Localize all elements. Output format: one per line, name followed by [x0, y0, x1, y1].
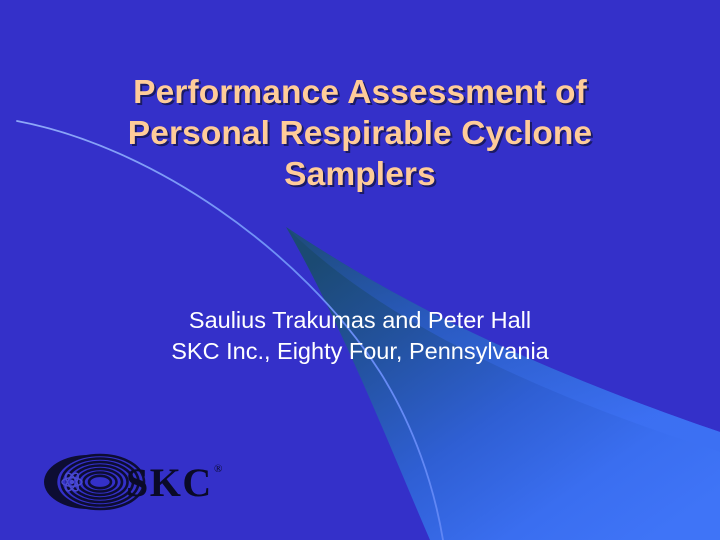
- skc-logo: SKC ®: [42, 446, 242, 520]
- title-line-1: Performance Assessment of: [56, 72, 664, 113]
- subtitle-authors: Saulius Trakumas and Peter Hall: [56, 305, 664, 336]
- title-line-3: Samplers: [56, 154, 664, 195]
- skc-logo-art: SKC ®: [42, 446, 242, 520]
- subtitle-affiliation: SKC Inc., Eighty Four, Pennsylvania: [56, 336, 664, 367]
- subtitle: Saulius Trakumas and Peter Hall SKC Inc.…: [56, 305, 664, 367]
- presentation-slide: Performance Assessment of Personal Respi…: [0, 0, 720, 540]
- slide-content: Performance Assessment of Personal Respi…: [0, 0, 720, 540]
- logo-wordmark: SKC: [126, 460, 213, 505]
- logo-registered-mark: ®: [214, 463, 222, 475]
- page-title: Performance Assessment of Personal Respi…: [56, 72, 664, 195]
- title-line-2: Personal Respirable Cyclone: [56, 113, 664, 154]
